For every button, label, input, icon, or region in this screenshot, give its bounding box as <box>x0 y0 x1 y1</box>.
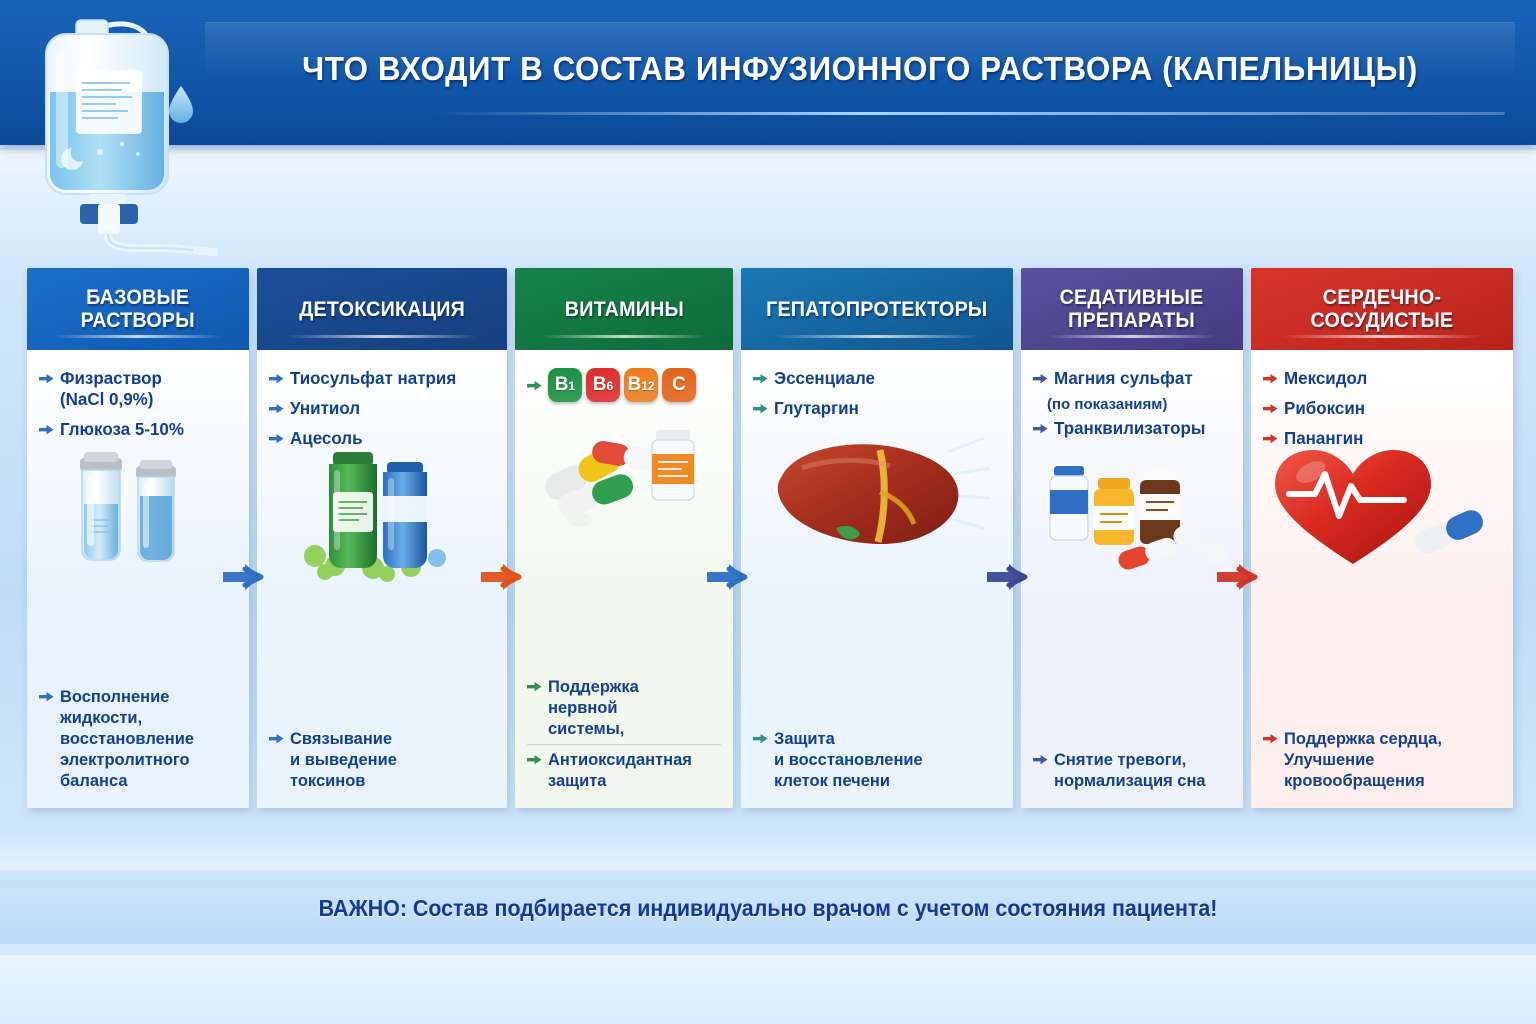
ingredient-item[interactable]: Глутаргин <box>753 394 1001 424</box>
ingredient-label: Физраствор (NaCl 0,9%) <box>60 368 162 410</box>
outcome-label: Снятие тревоги, нормализация сна <box>1054 749 1206 791</box>
ingredient-entry: Физраствор (NaCl 0,9%) <box>39 364 237 415</box>
arrow-bullet-icon <box>753 371 768 389</box>
ingredient-item[interactable]: Глюкоза 5-10% <box>39 415 237 445</box>
outcome-block: Снятие тревоги, нормализация сна <box>1033 745 1231 796</box>
category-title: ГЕПАТОПРОТЕКТОРЫ <box>766 298 987 321</box>
ingredient-entry: (по показаниям)Транквилизаторы <box>1033 394 1231 444</box>
ingredient-item[interactable]: Транквилизаторы <box>1033 414 1231 444</box>
arrow-bullet-icon <box>753 401 768 419</box>
outcome-item: Связывание и выведение токсинов <box>269 724 495 796</box>
ingredient-label: Мексидол <box>1284 368 1367 389</box>
header-glow-line <box>774 335 981 338</box>
ingredient-entry: Рибоксин <box>1263 394 1501 424</box>
outcome-item: Поддержка нервной системы, <box>527 672 721 744</box>
outcome-block: Восполнение жидкости, восстановление эле… <box>39 682 237 796</box>
ingredient-item[interactable]: Мексидол <box>1263 364 1501 394</box>
vitamin-badge: B12 <box>624 368 658 402</box>
arrow-bullet-icon <box>527 679 542 697</box>
outcome-item: Поддержка сердца, Улучшение кровообращен… <box>1263 724 1501 796</box>
arrow-bullet-icon <box>1263 731 1278 749</box>
outcome-item-secondary: Антиоксидантная защита <box>527 744 721 796</box>
capsules-and-pill-bottle-icon <box>515 414 733 539</box>
ingredient-item[interactable]: Унитиол <box>269 394 495 424</box>
liver-icon <box>741 432 1013 567</box>
vitamin-badge: B6 <box>586 368 620 402</box>
header-glow-line <box>287 335 477 338</box>
ingredient-item[interactable]: Тиосульфат натрия <box>269 364 495 394</box>
outcome-label-secondary: Антиоксидантная защита <box>548 749 692 791</box>
category-body-sedatives: Магния сульфат(по показаниям)Транквилиза… <box>1021 350 1243 808</box>
category-header-base-solutions: БАЗОВЫЕ РАСТВОРЫ <box>27 268 249 350</box>
arrow-bullet-icon <box>1033 421 1048 439</box>
outcome-label: Поддержка сердца, Улучшение кровообращен… <box>1284 728 1442 791</box>
flow-arrow-vitamins-to-hepatoprotectors <box>705 560 761 599</box>
arrow-bullet-icon <box>269 371 284 389</box>
outcome-item: Снятие тревоги, нормализация сна <box>1033 745 1231 796</box>
category-header-detox: ДЕТОКСИКАЦИЯ <box>257 268 507 350</box>
flow-arrow-hepatoprotectors-to-sedatives <box>985 560 1041 599</box>
vitamin-label: C <box>672 368 686 402</box>
two-infusion-bottles-icon <box>27 446 249 581</box>
vitamin-subscript: 1 <box>569 380 576 392</box>
category-card-base-solutions[interactable]: БАЗОВЫЕ РАСТВОРЫФизраствор (NaCl 0,9%)Гл… <box>27 268 249 808</box>
ingredient-label: Транквилизаторы <box>1054 418 1205 439</box>
arrow-bullet-icon <box>1263 401 1278 419</box>
vitamin-label: B <box>627 368 641 402</box>
category-card-sedatives[interactable]: СЕДАТИВНЫЕ ПРЕПАРАТЫМагния сульфат(по по… <box>1021 268 1243 808</box>
vitamin-badges: B1B6B12C <box>548 368 696 402</box>
outcome-block: Связывание и выведение токсинов <box>269 724 495 796</box>
ingredient-label: Рибоксин <box>1284 398 1365 419</box>
category-body-vitamins: B1B6B12CПоддержка нервной системы,Антиок… <box>515 350 733 808</box>
category-title: ДЕТОКСИКАЦИЯ <box>299 298 465 321</box>
vitamin-label: B <box>555 368 569 402</box>
category-title: ВИТАМИНЫ <box>564 298 683 321</box>
outcome-block: Защита и восстановление клеток печени <box>753 724 1001 796</box>
category-title: СЕДАТИВНЫЕ ПРЕПАРАТЫ <box>1060 286 1204 332</box>
vitamin-badge: B1 <box>548 368 582 402</box>
arrow-bullet-icon <box>269 401 284 419</box>
outcome-label: Связывание и выведение токсинов <box>290 728 397 791</box>
arrow-bullet-icon <box>527 378 542 396</box>
flow-arrow-base-solutions-to-detox <box>221 560 277 599</box>
vitamin-subscript: 12 <box>641 380 654 392</box>
header-glow-line <box>541 335 707 338</box>
arrow-bullet-icon <box>1263 371 1278 389</box>
category-header-cardiovascular: СЕРДЕЧНО- СОСУДИСТЫЕ <box>1251 268 1513 350</box>
category-title: БАЗОВЫЕ РАСТВОРЫ <box>81 286 195 332</box>
arrow-bullet-icon <box>269 731 284 749</box>
category-columns: БАЗОВЫЕ РАСТВОРЫФизраствор (NaCl 0,9%)Гл… <box>0 0 1536 1024</box>
ingredient-item[interactable]: Эссенциале <box>753 364 1001 394</box>
category-card-vitamins[interactable]: ВИТАМИНЫB1B6B12CПоддержка нервной систем… <box>515 268 733 808</box>
infographic-poster: ЧТО ВХОДИТ В СОСТАВ ИНФУЗИОННОГО РАСТВОР… <box>0 0 1536 1024</box>
ingredient-entry: Глюкоза 5-10% <box>39 415 237 445</box>
category-card-hepatoprotectors[interactable]: ГЕПАТОПРОТЕКТОРЫЭссенциалеГлутаргинЗащит… <box>741 268 1013 808</box>
green-and-blue-bottles-icon <box>257 446 507 591</box>
ingredient-item[interactable]: Рибоксин <box>1263 394 1501 424</box>
assorted-medicine-bottles-icon <box>1021 446 1243 581</box>
vitamin-subscript: 6 <box>607 380 614 392</box>
arrow-bullet-icon <box>39 371 54 389</box>
ingredient-label: Тиосульфат натрия <box>290 368 456 389</box>
ingredient-entry: Эссенциале <box>753 364 1001 394</box>
ingredient-entry: Глутаргин <box>753 394 1001 424</box>
arrow-bullet-icon <box>39 689 54 707</box>
vitamin-badge-row: B1B6B12C <box>527 364 721 407</box>
ingredient-entry: Мексидол <box>1263 364 1501 394</box>
arrow-bullet-icon <box>753 731 768 749</box>
ingredient-label: Глюкоза 5-10% <box>60 419 184 440</box>
flow-arrow-sedatives-to-cardiovascular <box>1215 560 1271 599</box>
arrow-bullet-icon <box>1033 752 1048 770</box>
outcome-label: Защита и восстановление клеток печени <box>774 728 923 791</box>
arrow-bullet-icon <box>1033 371 1048 389</box>
flow-arrow-detox-to-vitamins <box>479 560 535 599</box>
category-card-detox[interactable]: ДЕТОКСИКАЦИЯТиосульфат натрияУнитиолАцес… <box>257 268 507 808</box>
category-body-hepatoprotectors: ЭссенциалеГлутаргинЗащита и восстановлен… <box>741 350 1013 808</box>
outcome-block: Поддержка сердца, Улучшение кровообращен… <box>1263 724 1501 796</box>
category-header-sedatives: СЕДАТИВНЫЕ ПРЕПАРАТЫ <box>1021 268 1243 350</box>
outcome-item: Защита и восстановление клеток печени <box>753 724 1001 796</box>
header-glow-line <box>54 335 223 338</box>
ingredient-label: Глутаргин <box>774 398 859 419</box>
ingredient-entry: Магния сульфат <box>1033 364 1231 394</box>
outcome-label: Восполнение жидкости, восстановление эле… <box>60 686 194 791</box>
outcome-block: Поддержка нервной системы,Антиоксидантна… <box>527 672 721 796</box>
outcome-item: Восполнение жидкости, восстановление эле… <box>39 682 237 796</box>
ingredient-item[interactable]: Физраствор (NaCl 0,9%) <box>39 364 237 415</box>
ingredient-label: Магния сульфат <box>1054 368 1193 389</box>
category-card-cardiovascular[interactable]: СЕРДЕЧНО- СОСУДИСТЫЕМексидолРибоксинПана… <box>1251 268 1513 808</box>
heart-with-ecg-and-capsule-icon <box>1251 446 1513 581</box>
category-header-vitamins: ВИТАМИНЫ <box>515 268 733 350</box>
ingredient-item[interactable]: Магния сульфат <box>1033 364 1231 394</box>
category-header-hepatoprotectors: ГЕПАТОПРОТЕКТОРЫ <box>741 268 1013 350</box>
vitamin-badge: C <box>662 368 696 402</box>
arrow-bullet-icon <box>39 422 54 440</box>
category-body-detox: Тиосульфат натрияУнитиолАцесольСвязывани… <box>257 350 507 808</box>
header-glow-line <box>1282 335 1481 338</box>
category-body-cardiovascular: МексидолРибоксинПанангинПоддержка сердца… <box>1251 350 1513 808</box>
ingredient-entry: Тиосульфат натрия <box>269 364 495 394</box>
ingredient-entry: Унитиол <box>269 394 495 424</box>
category-title: СЕРДЕЧНО- СОСУДИСТЫЕ <box>1311 286 1454 332</box>
important-note: ВАЖНО: Состав подбирается индивидуально … <box>54 895 1482 922</box>
ingredient-note: (по показаниям) <box>1033 394 1231 414</box>
outcome-label: Поддержка нервной системы, <box>548 676 639 739</box>
arrow-bullet-icon <box>527 752 542 770</box>
header-glow-line <box>1048 335 1217 338</box>
ingredient-label: Унитиол <box>290 398 360 419</box>
vitamin-label: B <box>593 368 607 402</box>
category-body-base-solutions: Физраствор (NaCl 0,9%)Глюкоза 5-10%Воспо… <box>27 350 249 808</box>
ingredient-label: Эссенциале <box>774 368 875 389</box>
